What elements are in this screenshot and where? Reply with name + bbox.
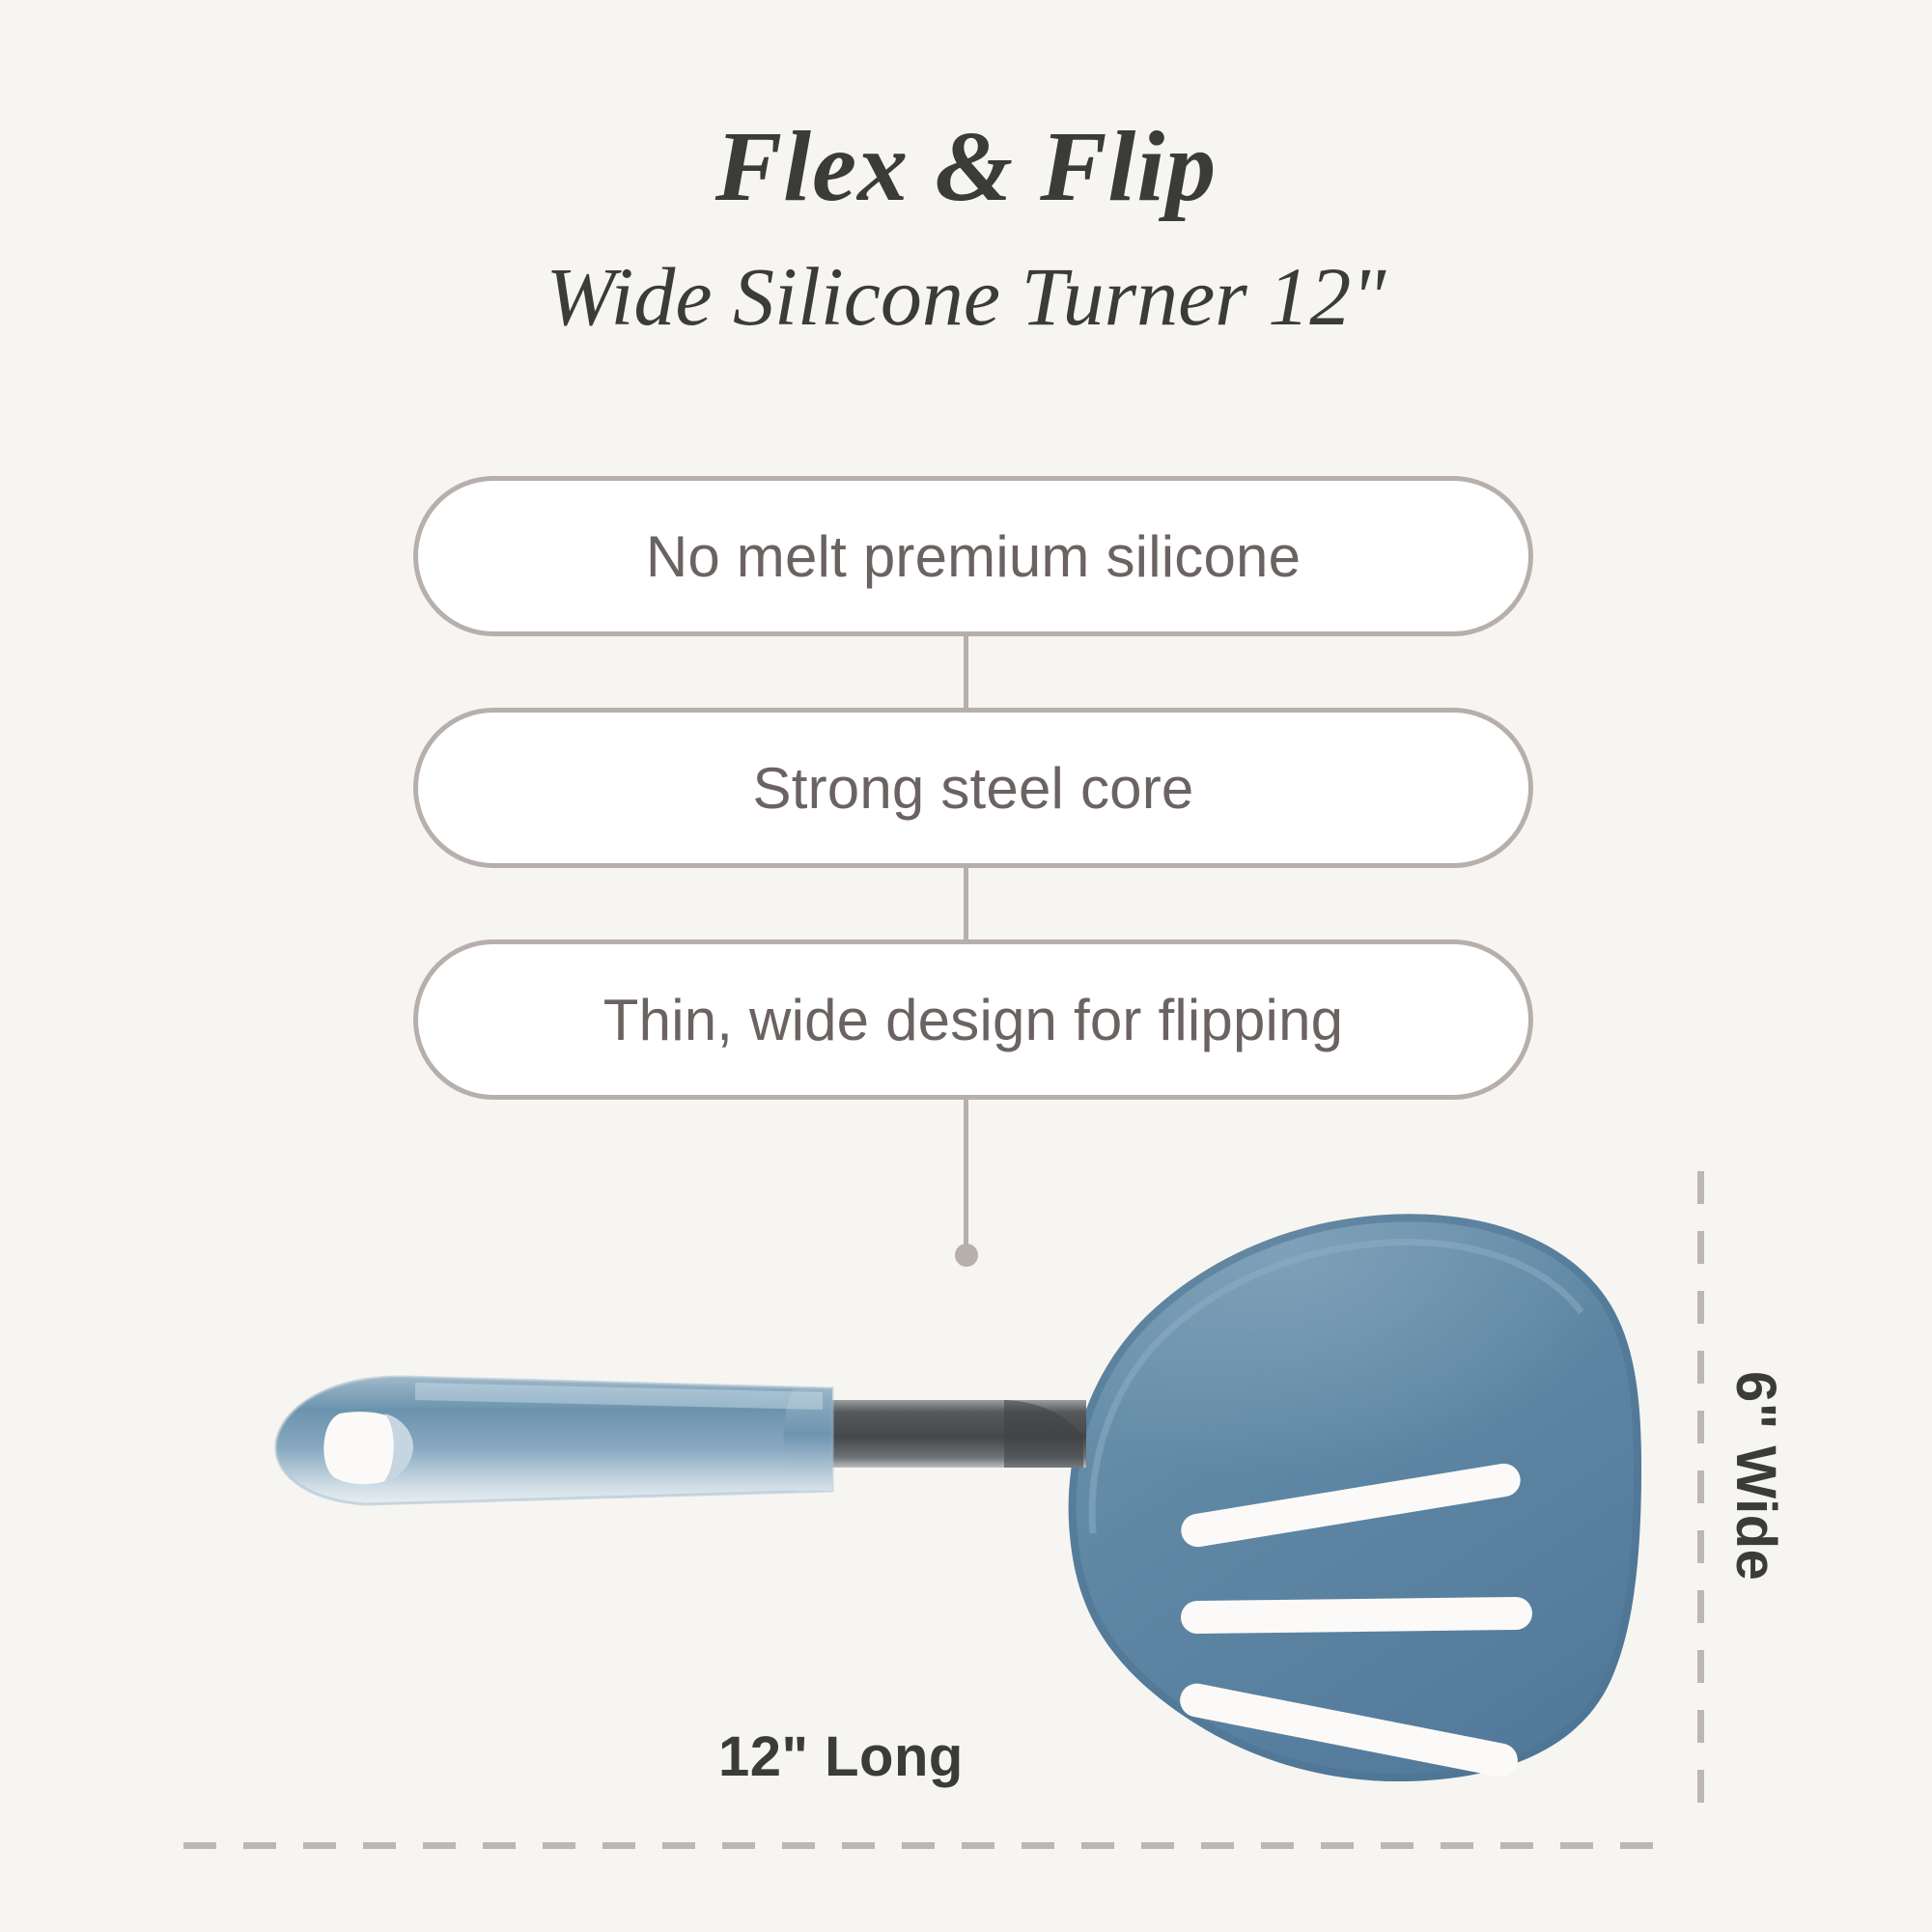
infographic-canvas: Flex & Flip Wide Silicone Turner 12" No … [0,0,1932,1932]
connector-line-2 [964,868,968,939]
feature-pill-1: No melt premium silicone [413,476,1533,636]
length-label: 12" Long [718,1724,964,1789]
width-guide-line [1697,1171,1704,1820]
feature-label: Thin, wide design for flipping [603,987,1343,1053]
product-image [0,1081,1932,1815]
page-subtitle: Wide Silicone Turner 12" [0,253,1932,340]
feature-pill-3: Thin, wide design for flipping [413,939,1533,1100]
blade-slot-middle [1181,1597,1532,1634]
connector-line-1 [964,636,968,708]
length-guide-line [183,1842,1659,1849]
hanging-hole [323,1412,413,1484]
turner-blade [1052,1168,1641,1781]
page-title: Flex & Flip [0,114,1932,219]
feature-label: Strong steel core [753,755,1194,822]
feature-pill-2: Strong steel core [413,708,1533,868]
feature-label: No melt premium silicone [646,523,1301,590]
width-label: 6" Wide [1723,1371,1788,1581]
steel-core-neck [811,1400,1086,1468]
turner-handle [276,1377,832,1504]
